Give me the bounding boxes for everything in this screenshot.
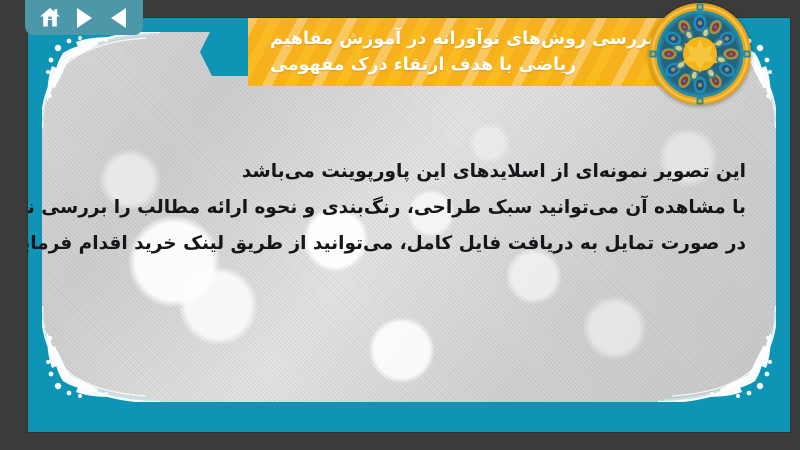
corner-ornament-bottom-right: [658, 306, 776, 402]
triangle-right-icon: [77, 8, 92, 28]
home-icon: [39, 7, 61, 28]
body-line-3: در صورت تمایل به دریافت فایل کامل، می‌تو…: [86, 226, 746, 262]
next-slide-button[interactable]: [71, 6, 97, 30]
previous-slide-button[interactable]: [105, 6, 131, 30]
slide-viewer: این تصویر نمونه‌ای از اسلایدهای این پاور…: [0, 0, 800, 450]
body-line-1: این تصویر نمونه‌ای از اسلایدهای این پاور…: [86, 154, 746, 190]
corner-ornament-bottom-left: [42, 306, 160, 402]
triangle-left-icon: [111, 8, 126, 28]
title-line-1: بررسی روش‌های نوآورانه در آموزش مفاهیم: [270, 26, 655, 52]
corner-ornament-top-left: [42, 32, 160, 128]
home-button[interactable]: [37, 6, 63, 30]
body-line-2: با مشاهده آن می‌توانید سبک طراحی، رنگ‌بن…: [86, 190, 746, 226]
title-line-2: ریاضی با هدف ارتقاء درک مفهومی: [270, 52, 576, 78]
slide-body-text: این تصویر نمونه‌ای از اسلایدهای این پاور…: [86, 154, 746, 262]
persian-mandala-medallion: [648, 2, 752, 106]
slide-navigation-bar: [25, 0, 143, 35]
